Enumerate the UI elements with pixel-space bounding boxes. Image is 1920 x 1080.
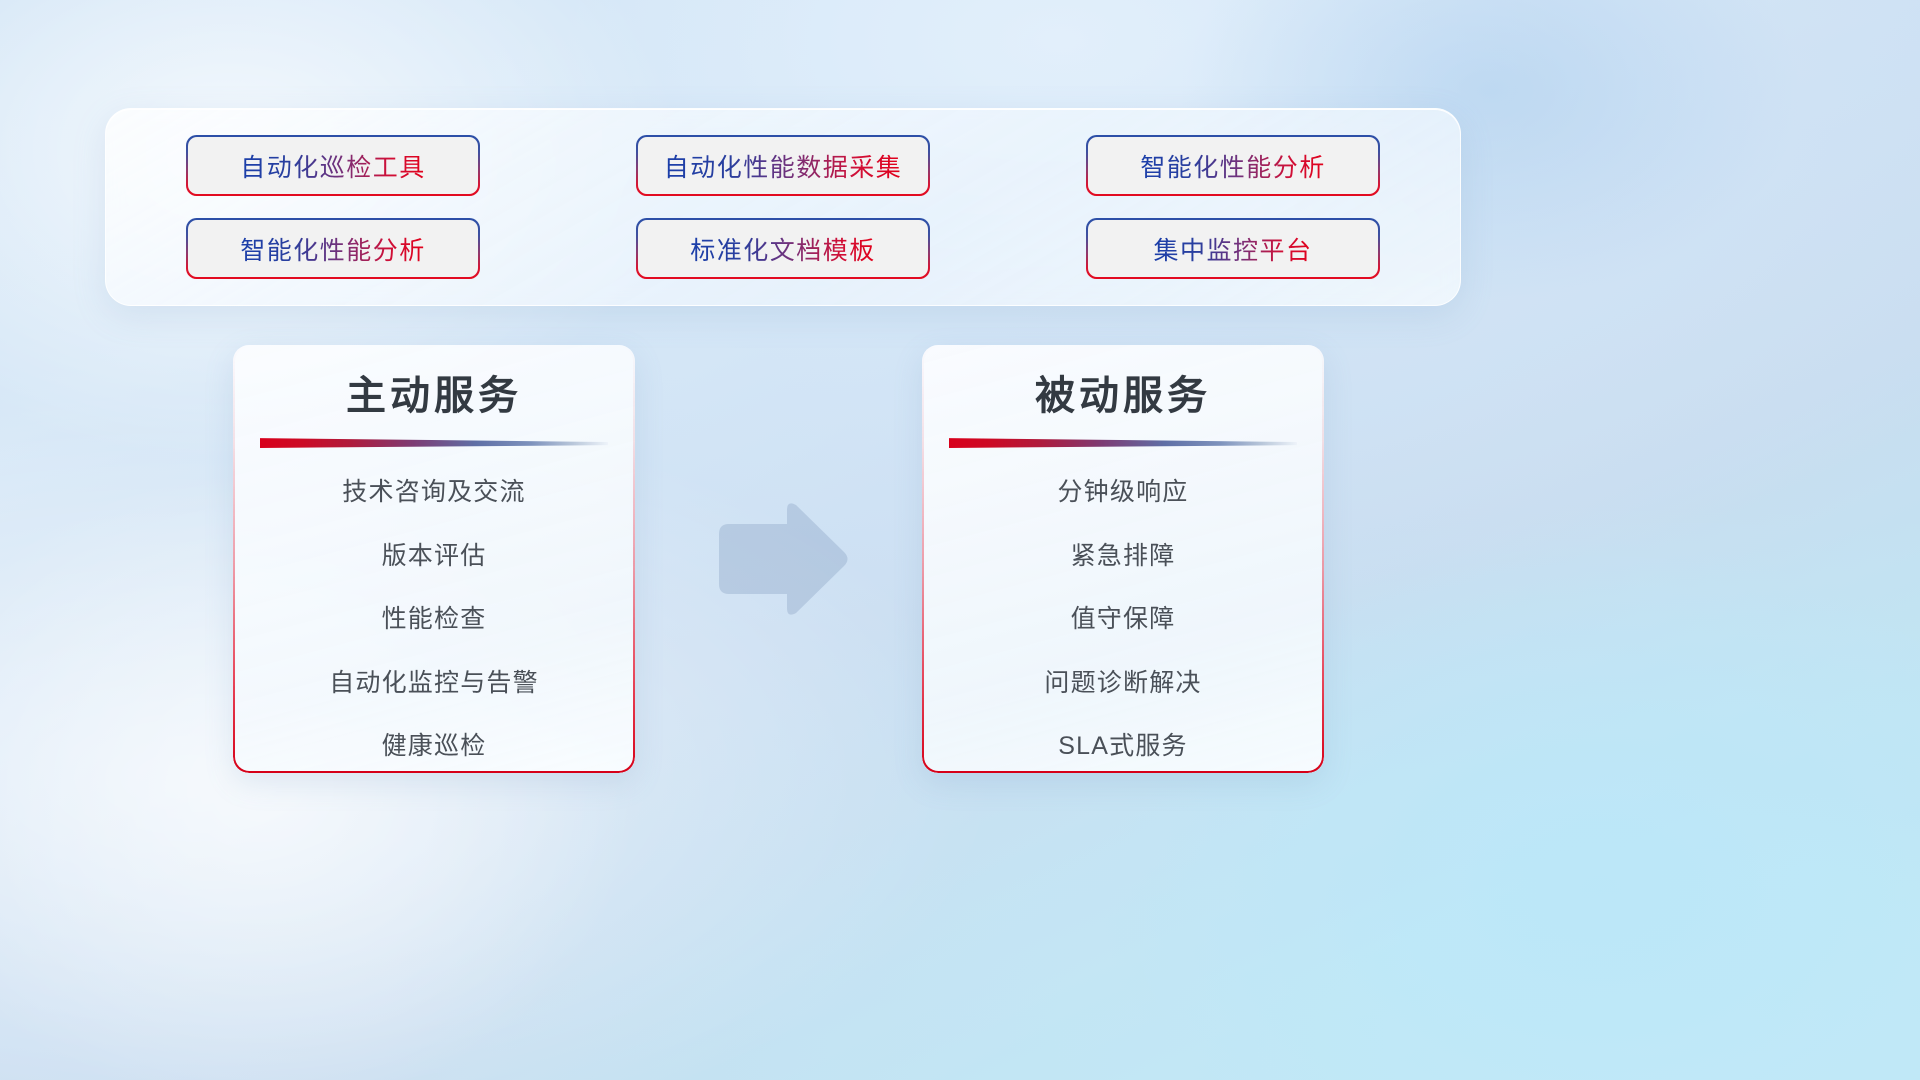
capability-pill-label: 智能化性能分析	[1140, 148, 1326, 184]
capability-pill-automated-inspection-tool[interactable]: 自动化巡检工具	[188, 137, 478, 194]
service-list-item: 紧急排障	[934, 542, 1312, 572]
service-card-title: 被动服务	[922, 369, 1324, 423]
arrow-right-icon	[711, 498, 851, 620]
capabilities-grid: 自动化巡检工具 自动化性能数据采集 智能化性能分析 智能化性能分析 标准化文档模…	[188, 137, 1378, 277]
service-list-item: 分钟级响应	[934, 478, 1312, 508]
capabilities-panel: 自动化巡检工具 自动化性能数据采集 智能化性能分析 智能化性能分析 标准化文档模…	[105, 108, 1461, 306]
service-item-list: 技术咨询及交流 版本评估 性能检查 自动化监控与告警 健康巡检	[233, 478, 635, 762]
service-card-active[interactable]: 主动服务 技术咨询及交流 版本评估 性能检查 自动化监控与告警 健康巡检	[233, 345, 635, 773]
service-list-item: 性能检查	[245, 605, 623, 635]
slide-canvas: 自动化巡检工具 自动化性能数据采集 智能化性能分析 智能化性能分析 标准化文档模…	[0, 0, 1920, 1080]
service-list-item: 自动化监控与告警	[245, 669, 623, 699]
capability-pill-label: 自动化性能数据采集	[664, 148, 903, 184]
capability-pill-label: 集中监控平台	[1153, 231, 1312, 267]
capability-pill-intelligent-performance-analysis-top[interactable]: 智能化性能分析	[1088, 137, 1378, 194]
capability-pill-label: 智能化性能分析	[240, 231, 426, 267]
title-divider-gradient	[260, 437, 608, 448]
capability-pill-standardized-document-template[interactable]: 标准化文档模板	[638, 220, 928, 277]
service-card-title: 主动服务	[233, 369, 635, 423]
capability-pill-label: 自动化巡检工具	[240, 148, 426, 184]
service-list-item: 问题诊断解决	[934, 669, 1312, 699]
service-list-item: 健康巡检	[245, 732, 623, 762]
capability-pill-intelligent-performance-analysis-bottom[interactable]: 智能化性能分析	[188, 220, 478, 277]
service-list-item: SLA式服务	[934, 732, 1312, 762]
title-divider-gradient	[949, 437, 1297, 448]
service-list-item: 值守保障	[934, 605, 1312, 635]
capability-pill-automated-performance-data-collection[interactable]: 自动化性能数据采集	[638, 137, 928, 194]
service-card-passive[interactable]: 被动服务 分钟级响应 紧急排障 值守保障 问题诊断解决 SLA式服务	[922, 345, 1324, 773]
service-item-list: 分钟级响应 紧急排障 值守保障 问题诊断解决 SLA式服务	[922, 478, 1324, 762]
capability-pill-centralized-monitoring-platform[interactable]: 集中监控平台	[1088, 220, 1378, 277]
capability-pill-label: 标准化文档模板	[690, 231, 876, 267]
divider-bar	[260, 437, 608, 448]
service-list-item: 版本评估	[245, 542, 623, 572]
service-list-item: 技术咨询及交流	[245, 478, 623, 508]
divider-bar	[949, 437, 1297, 448]
